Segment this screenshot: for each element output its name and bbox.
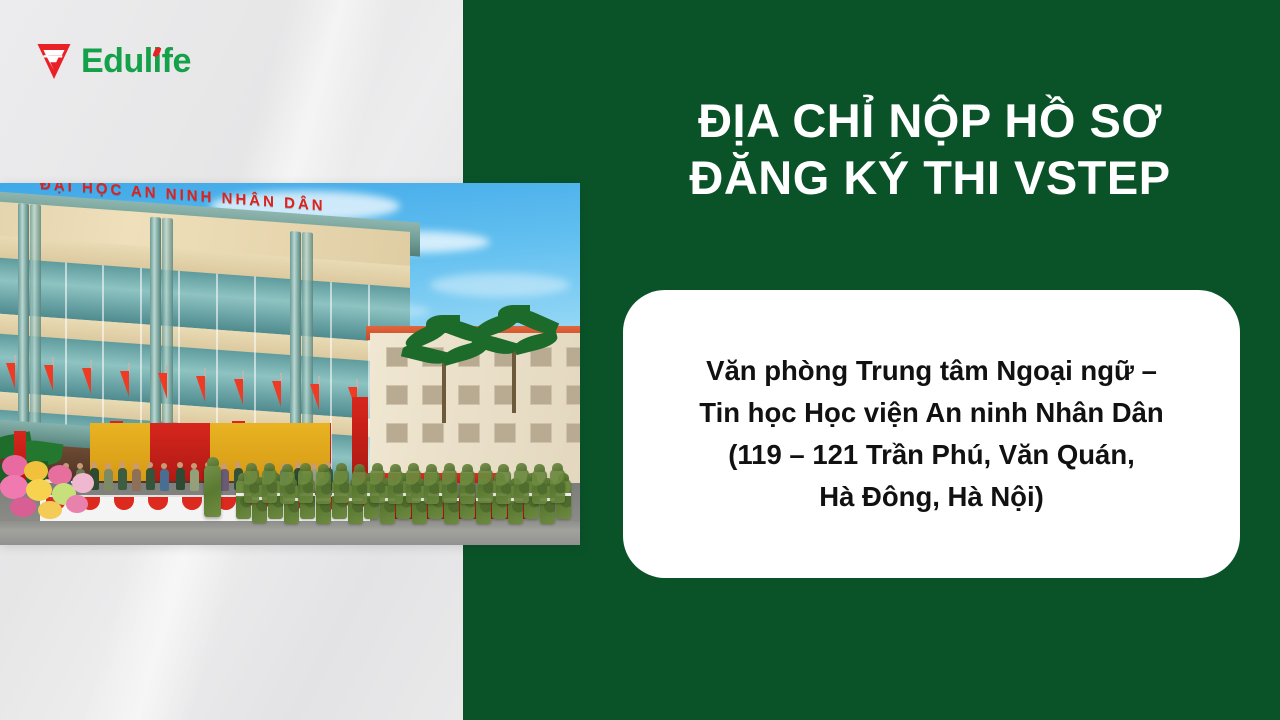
page-title-line-2: ĐĂNG KÝ THI VSTEP bbox=[600, 149, 1260, 206]
brand-logo[interactable]: Edulife bbox=[36, 40, 191, 82]
photo-parade-leader bbox=[204, 465, 221, 517]
page-title: ĐỊA CHỈ NỘP HỒ SƠ ĐĂNG KÝ THI VSTEP bbox=[600, 92, 1260, 207]
address-card-text: Văn phòng Trung tâm Ngoại ngữ – Tin học … bbox=[699, 350, 1163, 517]
address-line-2: Tin học Học viện An ninh Nhân Dân bbox=[699, 392, 1163, 434]
address-card: Văn phòng Trung tâm Ngoại ngữ – Tin học … bbox=[623, 290, 1240, 578]
address-line-3: (119 – 121 Trần Phú, Văn Quán, bbox=[699, 434, 1163, 476]
address-line-4: Hà Đông, Hà Nội) bbox=[699, 476, 1163, 518]
ceremony-photo: ĐẠI HỌC AN NINH NHÂN DÂN bbox=[0, 183, 580, 545]
edulife-triangle-mark-icon bbox=[36, 42, 72, 80]
brand-name: Edulife bbox=[81, 44, 191, 78]
page-title-line-1: ĐỊA CHỈ NỘP HỒ SƠ bbox=[600, 92, 1260, 149]
address-line-1: Văn phòng Trung tâm Ngoại ngữ – bbox=[699, 350, 1163, 392]
logo-accent-dot bbox=[152, 46, 161, 57]
photo-marching-soldiers bbox=[0, 183, 580, 545]
